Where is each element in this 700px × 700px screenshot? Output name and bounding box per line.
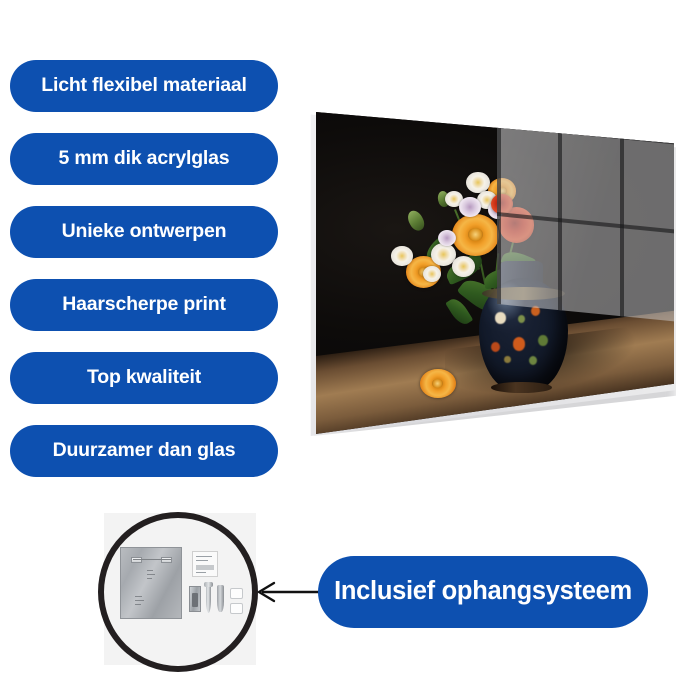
feature-badge-label: Licht flexibel materiaal xyxy=(41,76,246,96)
acrylic-panel[interactable] xyxy=(306,100,676,445)
feature-badge-duurzamer-dan-glas[interactable]: Duurzamer dan glas xyxy=(10,425,278,477)
feature-badge-licht-flexibel-materiaal[interactable]: Licht flexibel materiaal xyxy=(10,60,278,112)
artwork-vase-motif xyxy=(529,356,537,365)
artwork-lilac-flower xyxy=(438,230,456,246)
callout-badge-label: Inclusief ophangsysteem xyxy=(334,579,632,605)
feature-badge-top-kwaliteit[interactable]: Top kwaliteit xyxy=(10,352,278,404)
feature-badge-list: Licht flexibel materiaal 5 mm dik acrylg… xyxy=(10,60,278,498)
artwork-daisy-flower xyxy=(423,266,441,282)
mounting-kit-circle-frame xyxy=(98,512,258,672)
artwork-marigold-flower xyxy=(452,214,499,256)
artwork-daisy-flower xyxy=(391,246,412,265)
feature-badge-haarscherpe-print[interactable]: Haarscherpe print xyxy=(10,279,278,331)
window-reflection-overlay xyxy=(497,123,674,323)
artwork-vase-motif xyxy=(504,356,511,364)
product-feature-sheet: Licht flexibel materiaal 5 mm dik acrylg… xyxy=(0,0,700,700)
feature-badge-label: Top kwaliteit xyxy=(87,368,201,388)
feature-badge-5mm-dik-acrylglas[interactable]: 5 mm dik acrylglas xyxy=(10,133,278,185)
artwork-vase-motif xyxy=(491,342,500,352)
callout-arrow-icon xyxy=(252,578,324,606)
artwork-fallen-marigold xyxy=(420,369,456,398)
feature-badge-unieke-ontwerpen[interactable]: Unieke ontwerpen xyxy=(10,206,278,258)
artwork-vase-motif xyxy=(495,312,506,323)
artwork-daisy-flower xyxy=(466,172,489,193)
feature-badge-label: Unieke ontwerpen xyxy=(62,222,227,242)
artwork-still-life xyxy=(316,110,674,434)
feature-badge-label: Duurzamer dan glas xyxy=(53,441,236,461)
window-frame-left xyxy=(497,123,501,305)
feature-badge-label: 5 mm dik acrylglas xyxy=(59,149,230,169)
artwork-vase-motif xyxy=(513,337,526,351)
artwork-vase-motif xyxy=(518,315,525,323)
artwork-lilac-flower xyxy=(459,197,480,216)
feature-badge-label: Haarscherpe print xyxy=(62,295,226,315)
callout-badge-inclusief-ophangsysteem[interactable]: Inclusief ophangsysteem xyxy=(318,556,648,628)
panel-artwork-face xyxy=(316,110,674,434)
artwork-vase-motif xyxy=(538,335,548,346)
artwork-daisy-flower xyxy=(452,256,475,277)
